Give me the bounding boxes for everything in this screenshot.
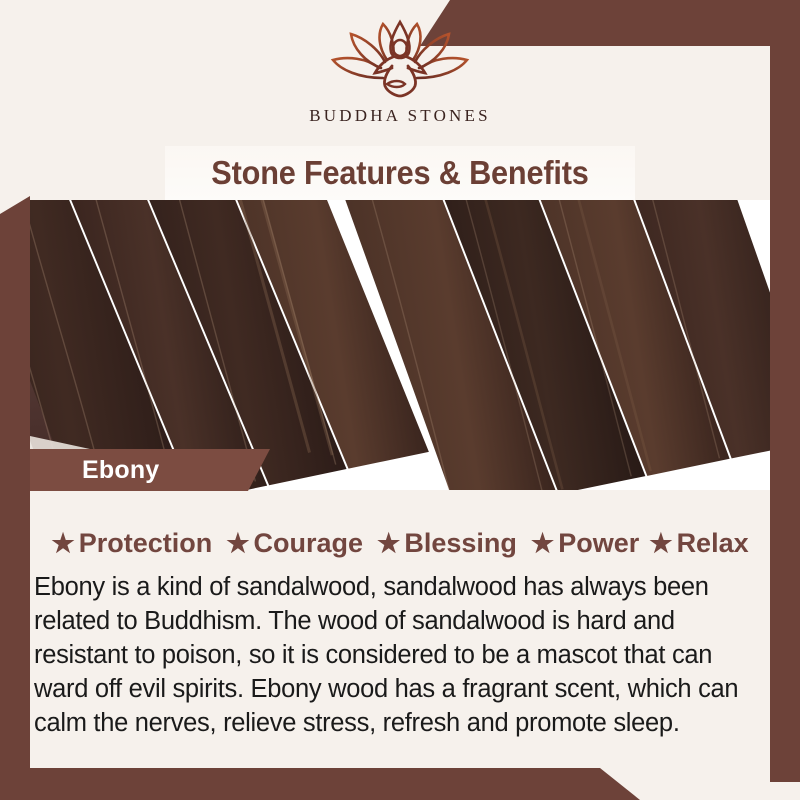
benefit-label: Blessing bbox=[404, 528, 517, 559]
benefit-item: ★ Courage bbox=[226, 528, 363, 559]
benefit-item: ★ Power bbox=[531, 528, 639, 559]
benefit-item: ★ Protection bbox=[51, 528, 212, 559]
benefit-item: ★ Blessing bbox=[377, 528, 517, 559]
ebony-wood-planks-photo bbox=[30, 200, 770, 490]
header: BUDDHA STONES bbox=[0, 0, 800, 146]
frame-right-bar bbox=[770, 46, 800, 782]
frame-left-bar bbox=[0, 196, 30, 800]
star-icon: ★ bbox=[649, 530, 672, 556]
brand-logo: BUDDHA STONES bbox=[0, 18, 800, 126]
benefit-label: Protection bbox=[79, 528, 213, 559]
benefits-list: ★ Protection ★ Courage ★ Blessing ★ Powe… bbox=[30, 521, 770, 565]
star-icon: ★ bbox=[226, 530, 249, 556]
star-icon: ★ bbox=[51, 530, 74, 556]
star-icon: ★ bbox=[531, 530, 554, 556]
product-label-text: Ebony bbox=[82, 456, 159, 485]
description-text: Ebony is a kind of sandalwood, sandalwoo… bbox=[34, 570, 760, 740]
frame-bottom-bar bbox=[0, 768, 640, 800]
brand-name: BUDDHA STONES bbox=[309, 106, 491, 126]
benefit-label: Power bbox=[558, 528, 639, 559]
benefit-label: Courage bbox=[254, 528, 364, 559]
page-title: Stone Features & Benefits bbox=[28, 146, 772, 200]
benefit-label: Relax bbox=[677, 528, 749, 559]
product-photo bbox=[30, 200, 770, 490]
benefit-item: ★ Relax bbox=[649, 528, 748, 559]
star-icon: ★ bbox=[377, 530, 400, 556]
poster: BUDDHA STONES Stone Features & Benefits bbox=[0, 0, 800, 800]
product-label-banner: Ebony bbox=[30, 449, 270, 491]
lotus-meditation-logo-icon bbox=[325, 18, 475, 100]
